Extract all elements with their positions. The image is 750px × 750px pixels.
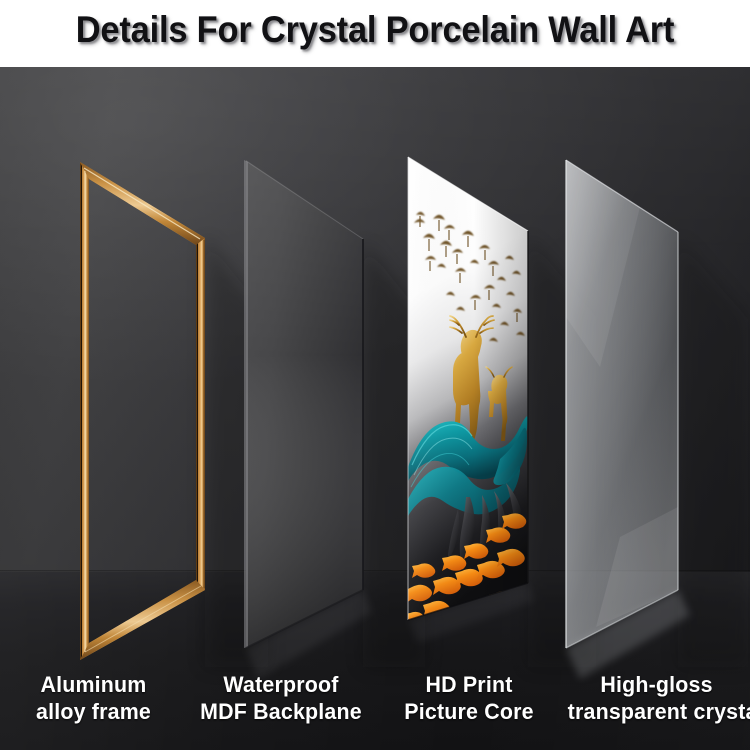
mdf-face-shading	[246, 160, 363, 648]
header-band: Details For Crystal Porcelain Wall Art	[0, 0, 750, 67]
caption-line-2: transparent crystal	[568, 698, 746, 725]
caption-high-gloss-transparent-crystal: High-gloss transparent crystal	[568, 671, 746, 725]
frame-rail-bottom	[80, 580, 205, 660]
frame-highlight-top	[84, 168, 200, 239]
panel-aluminum-alloy-frame	[80, 162, 205, 660]
panel-waterproof-mdf-backplane	[244, 160, 363, 648]
caption-line-1: High-gloss	[568, 671, 746, 698]
caption-line-2: alloy frame	[5, 698, 183, 725]
mdf-edge-left	[244, 160, 248, 648]
panel-hd-print-picture-core	[405, 157, 528, 643]
artwork-content	[405, 157, 528, 643]
artwork-perspective-shading	[408, 157, 528, 620]
caption-waterproof-mdf-backplane: Waterproof MDF Backplane	[192, 671, 371, 725]
shadow-crystal	[678, 239, 748, 667]
caption-aluminum-alloy-frame: Aluminum alloy frame	[5, 671, 183, 725]
caption-line-1: Waterproof	[192, 671, 371, 698]
caption-line-1: Aluminum	[5, 671, 183, 698]
studio-scene	[0, 67, 750, 750]
caption-line-1: HD Print	[380, 671, 559, 698]
caption-line-2: MDF Backplane	[192, 698, 371, 725]
page-title: Details For Crystal Porcelain Wall Art	[26, 0, 724, 67]
caption-line-2: Picture Core	[380, 698, 559, 725]
frame-highlight-bottom	[85, 586, 201, 652]
panel-high-gloss-transparent-crystal	[566, 160, 678, 648]
product-detail-image: Details For Crystal Porcelain Wall Art A…	[0, 0, 750, 750]
exploded-panel-group	[0, 67, 750, 750]
caption-hd-print-picture-core: HD Print Picture Core	[380, 671, 559, 725]
